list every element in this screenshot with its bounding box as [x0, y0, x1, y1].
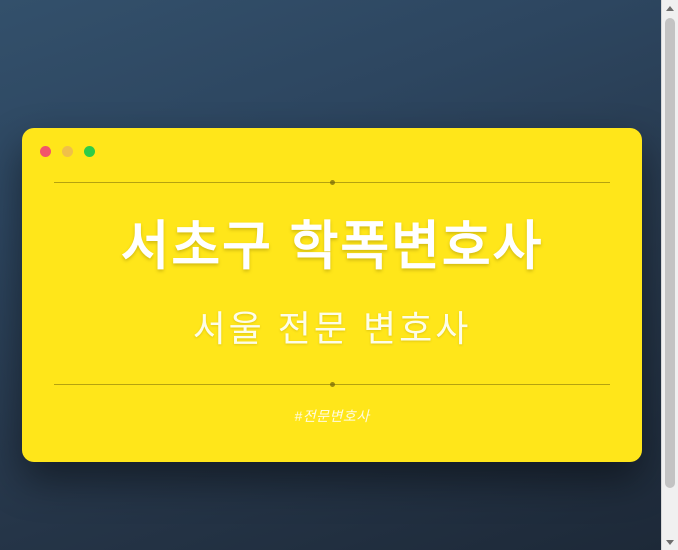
- card-hashtag: #전문변호사: [22, 406, 642, 426]
- divider-node-icon: [330, 382, 335, 387]
- card-title: 서초구 학폭변호사: [22, 204, 642, 280]
- divider-top: [54, 182, 610, 183]
- scrollbar-thumb[interactable]: [665, 18, 675, 488]
- divider-node-icon: [330, 180, 335, 185]
- triangle-down-icon: [666, 540, 674, 545]
- page-root: 서초구 학폭변호사 서울 전문 변호사 #전문변호사: [0, 0, 678, 550]
- divider-bottom: [54, 384, 610, 385]
- close-button-dot[interactable]: [40, 146, 51, 157]
- minimize-button-dot[interactable]: [62, 146, 73, 157]
- browser-viewport: 서초구 학폭변호사 서울 전문 변호사 #전문변호사: [0, 0, 662, 550]
- scroll-up-icon[interactable]: [662, 0, 678, 16]
- card-subtitle: 서울 전문 변호사: [22, 300, 642, 352]
- thumbnail-card[interactable]: 서초구 학폭변호사 서울 전문 변호사 #전문변호사: [22, 128, 642, 462]
- window-traffic-lights: [40, 146, 95, 157]
- scroll-down-icon[interactable]: [662, 534, 678, 550]
- vertical-scrollbar[interactable]: [661, 0, 678, 550]
- triangle-up-icon: [666, 6, 674, 11]
- maximize-button-dot[interactable]: [84, 146, 95, 157]
